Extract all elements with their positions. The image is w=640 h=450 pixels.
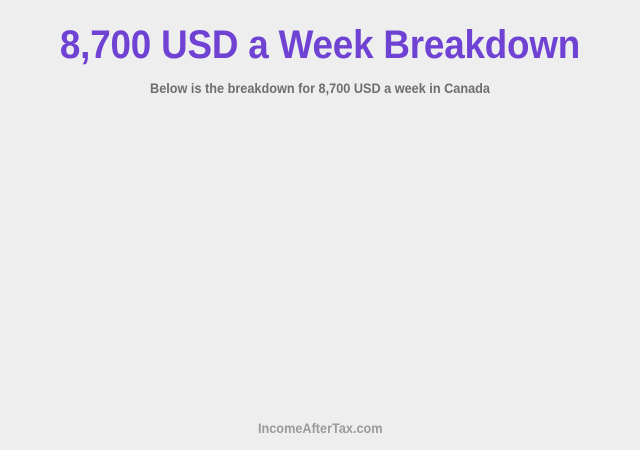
page-title: 8,700 USD a Week Breakdown bbox=[26, 22, 615, 68]
chart-plot-area bbox=[0, 120, 640, 410]
page-root: 8,700 USD a Week Breakdown Below is the … bbox=[0, 0, 640, 450]
footer-brand-label: IncomeAfterTax.com bbox=[258, 421, 383, 437]
page-footer: IncomeAfterTax.com bbox=[0, 420, 640, 438]
page-header: 8,700 USD a Week Breakdown Below is the … bbox=[0, 0, 640, 97]
page-subtitle: Below is the breakdown for 8,700 USD a w… bbox=[19, 68, 621, 97]
